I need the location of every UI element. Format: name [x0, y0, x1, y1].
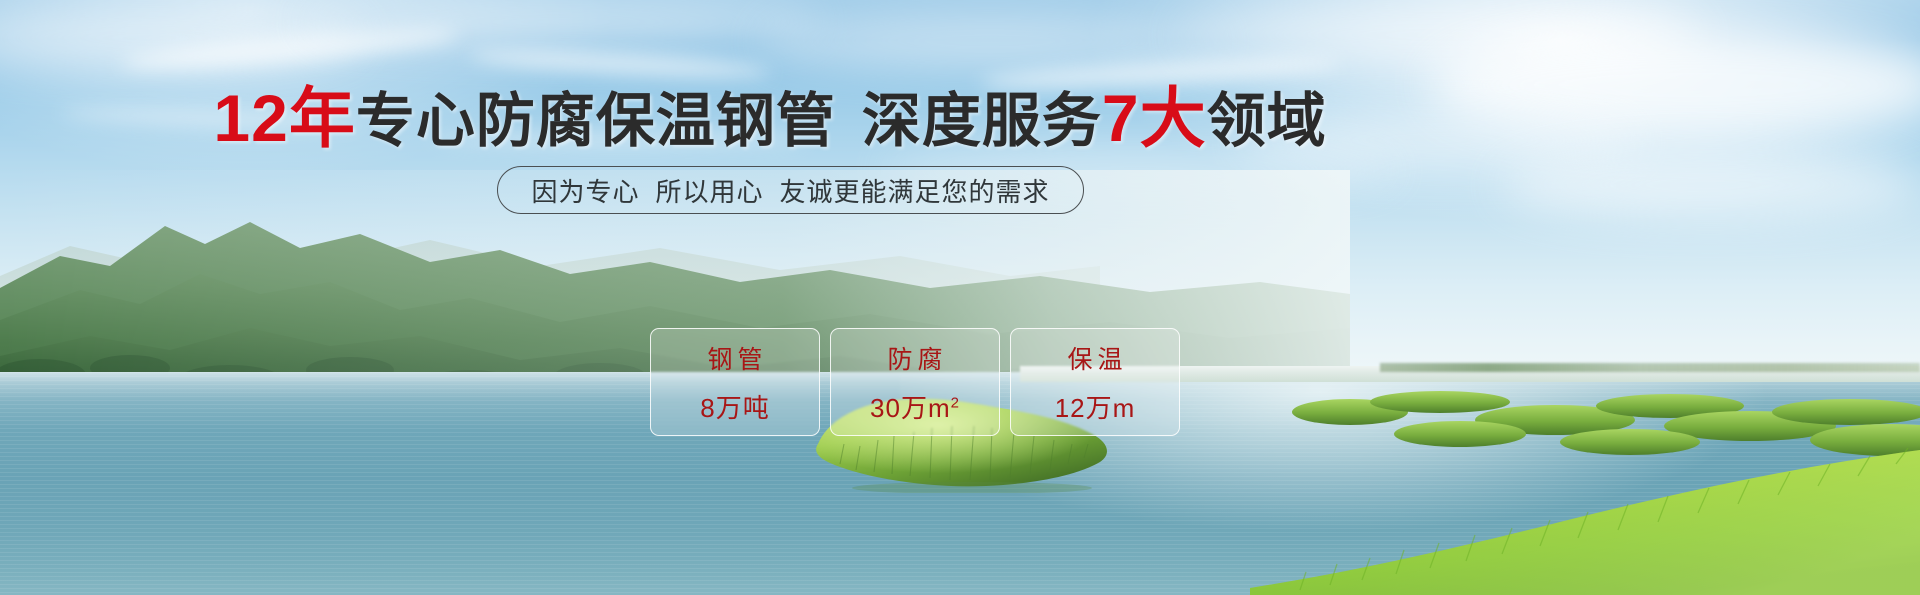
subtitle-segment-2: 所以用心: [655, 177, 763, 207]
stat-card-anticorrosion[interactable]: 防腐 30万m2: [830, 328, 1000, 436]
stat-value-text: 12万m: [1055, 393, 1136, 423]
headline-service: 深度服务: [862, 88, 1102, 154]
stat-value: 30万m2: [870, 388, 960, 425]
stat-value: 12万m: [1055, 388, 1136, 425]
stat-label: 防腐: [882, 340, 947, 376]
stat-label: 钢管: [702, 340, 767, 376]
stat-card-steel-pipe[interactable]: 钢管 8万吨: [650, 328, 820, 436]
headline-fields: 领域: [1207, 88, 1327, 154]
hero-banner: 12年专心防腐保温钢管深度服务7大领域 因为专心所以用心友诚更能满足您的需求 钢…: [0, 0, 1920, 595]
headline-years: 12年: [213, 81, 355, 155]
banner-content: 12年专心防腐保温钢管深度服务7大领域 因为专心所以用心友诚更能满足您的需求 钢…: [0, 0, 1920, 595]
page-title: 12年专心防腐保温钢管深度服务7大领域: [0, 84, 1540, 153]
headline-measure-word: 大: [1140, 81, 1207, 155]
subtitle-pill: 因为专心所以用心友诚更能满足您的需求: [497, 166, 1084, 214]
stat-card-group: 钢管 8万吨 防腐 30万m2 保温 12万m: [650, 328, 1180, 436]
stat-value-text: 8万吨: [700, 393, 769, 423]
headline-main: 专心防腐保温钢管: [356, 88, 836, 154]
subtitle-segment-3: 友诚更能满足您的需求: [780, 177, 1050, 207]
subtitle-segment-1: 因为专心: [531, 177, 639, 207]
stat-value-text: 30万m: [870, 393, 951, 423]
stat-value: 8万吨: [700, 388, 769, 425]
stat-card-insulation[interactable]: 保温 12万m: [1010, 328, 1180, 436]
stat-value-superscript: 2: [951, 394, 960, 411]
stat-label: 保温: [1062, 340, 1127, 376]
headline-count: 7: [1102, 81, 1140, 155]
subtitle-text: 因为专心所以用心友诚更能满足您的需求: [531, 172, 1049, 209]
